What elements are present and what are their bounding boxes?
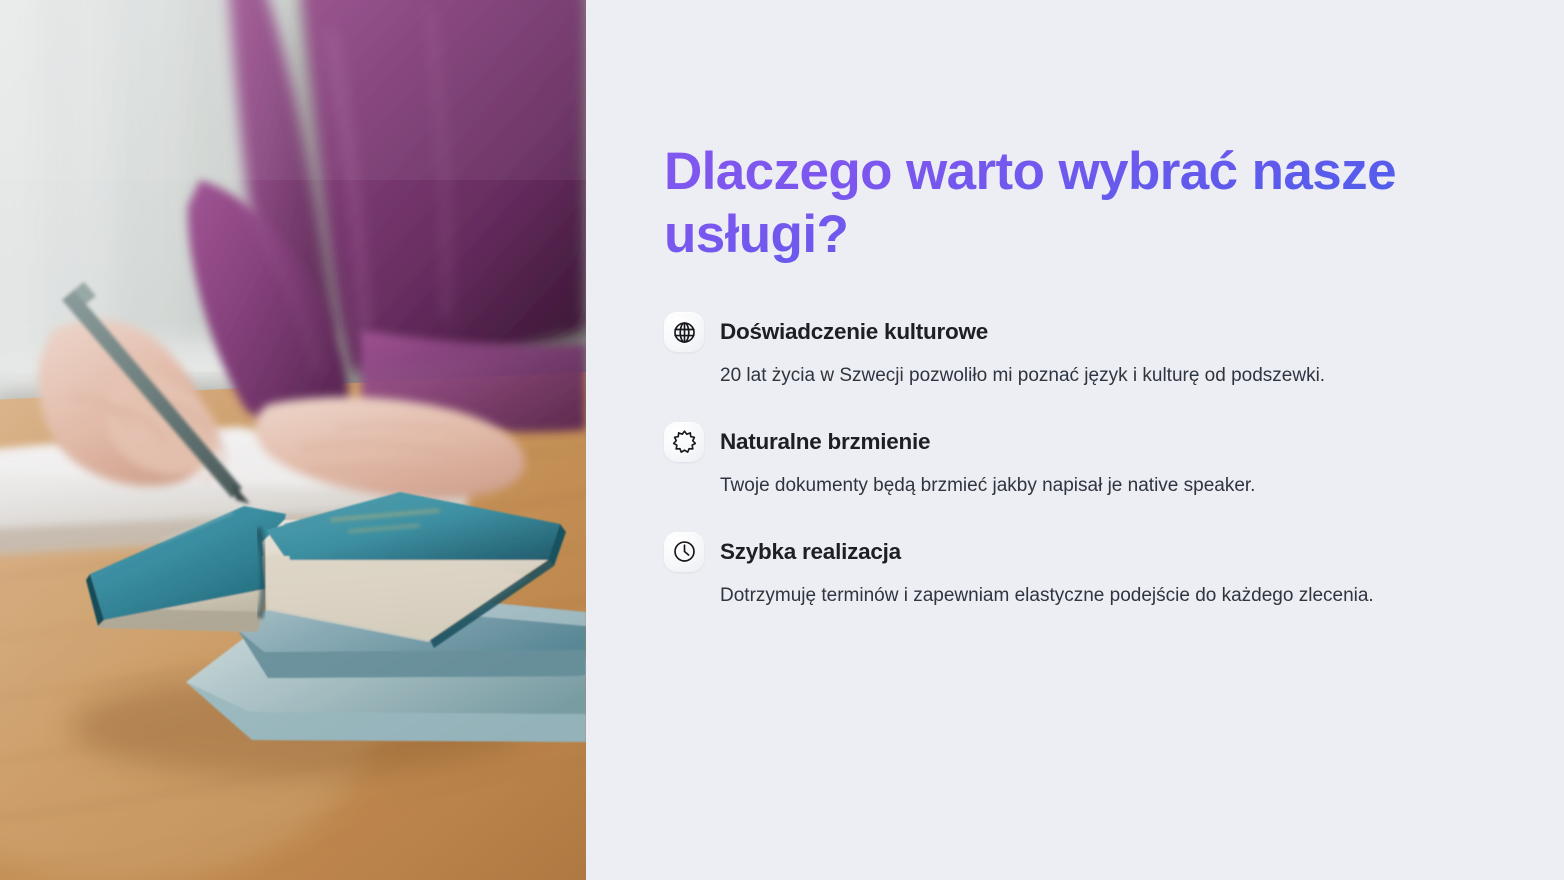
feature-title: Szybka realizacja [720, 539, 901, 565]
feature-description: Dotrzymuję terminów i zapewniam elastycz… [720, 581, 1410, 612]
clock-icon [664, 532, 704, 572]
feature-list: Doświadczenie kulturowe 20 lat życia w S… [664, 312, 1484, 611]
feature-description: 20 lat życia w Szwecji pozwoliło mi pozn… [720, 361, 1410, 392]
feature-header: Naturalne brzmienie [664, 422, 1484, 462]
hero-photo-illustration [0, 0, 586, 880]
starburst-icon [664, 422, 704, 462]
globe-icon [664, 312, 704, 352]
feature-item-natural-sound: Naturalne brzmienie Twoje dokumenty będą… [664, 422, 1484, 502]
page-title: Dlaczego warto wybrać nasze usługi? [664, 140, 1464, 266]
feature-header: Szybka realizacja [664, 532, 1484, 572]
feature-item-fast-delivery: Szybka realizacja Dotrzymuję terminów i … [664, 532, 1484, 612]
feature-header: Doświadczenie kulturowe [664, 312, 1484, 352]
feature-item-cultural-experience: Doświadczenie kulturowe 20 lat życia w S… [664, 312, 1484, 392]
feature-title: Naturalne brzmienie [720, 429, 930, 455]
content-panel: Dlaczego warto wybrać nasze usługi? D [586, 0, 1564, 880]
feature-title: Doświadczenie kulturowe [720, 319, 988, 345]
hero-photo [0, 0, 586, 880]
slide-root: Dlaczego warto wybrać nasze usługi? D [0, 0, 1564, 880]
feature-description: Twoje dokumenty będą brzmieć jakby napis… [720, 471, 1410, 502]
